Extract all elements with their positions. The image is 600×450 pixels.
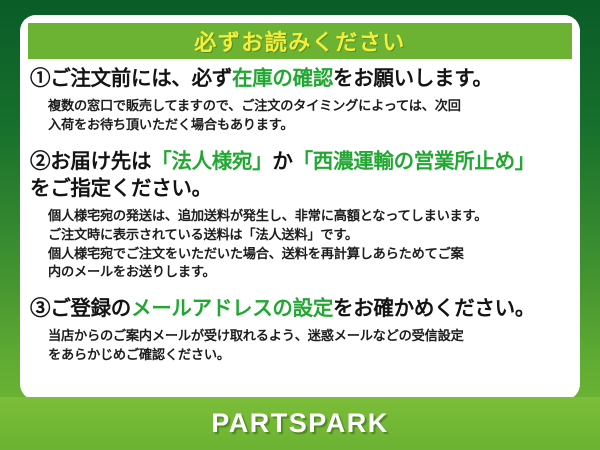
notice-item-2-headline-seg-1: お届け先は <box>50 150 151 173</box>
notice-item-3-marker: ③ <box>30 297 50 320</box>
notice-item-2-body-line-2: ご注文時に表示されている送料は「法人送料」です。 <box>30 226 572 245</box>
notice-item-2-headline-highlight-1: 「法人様宛」 <box>151 150 272 173</box>
notice-item-3: ③ご登録のメールアドレスの設定をお確かめください。 当店からのご案内メールが受け… <box>30 295 572 365</box>
notice-item-2-body-line-1: 個人様宅宛の発送は、追加送料が発生し、非常に高額となってしまいます。 <box>30 207 572 226</box>
notice-item-2-headline: ②お届け先は「法人様宛」か「西濃運輸の営業所止め」 <box>30 148 572 175</box>
brand-logo: PARTSPARK <box>211 408 389 439</box>
notice-item-1-body-line-2: 入荷をお待ち頂いただく場合もあります。 <box>30 116 572 135</box>
notice-item-2-marker: ② <box>30 150 50 173</box>
notice-item-1: ①ご注文前には、必ず在庫の確認をお願いします。 複数の窓口で販売してますので、ご… <box>30 65 572 135</box>
notice-item-3-headline: ③ご登録のメールアドレスの設定をお確かめください。 <box>30 295 572 322</box>
notice-item-2-headline-highlight-2: 「西濃運輸の営業所止め」 <box>293 150 535 173</box>
notice-item-3-headline-seg-3: をお確かめください。 <box>333 297 535 320</box>
notice-item-1-headline-seg-1: ご注文前には、必ず <box>50 67 232 90</box>
notice-panel: 必ずお読みください ①ご注文前には、必ず在庫の確認をお願いします。 複数の窓口で… <box>20 15 580 400</box>
notice-item-2-headline-line-2: をご指定ください。 <box>30 175 572 202</box>
page-title: 必ずお読みください <box>194 25 406 57</box>
notice-item-1-headline: ①ご注文前には、必ず在庫の確認をお願いします。 <box>30 65 572 92</box>
notice-content: ①ご注文前には、必ず在庫の確認をお願いします。 複数の窓口で販売してますので、ご… <box>20 65 580 367</box>
notice-item-1-headline-highlight: 在庫の確認 <box>232 67 333 90</box>
notice-item-2-body-line-4: 内のメールをお送りします。 <box>30 263 572 282</box>
notice-item-2-headline-seg-3: か <box>272 150 292 173</box>
footer-bar: PARTSPARK <box>0 397 600 450</box>
notice-item-2-body-line-3: 個人様宅宛でご注文をいただいた場合、送料を再計算しあらためてご案 <box>30 245 572 264</box>
notice-title-bar: 必ずお読みください <box>28 23 572 59</box>
notice-item-3-body-line-1: 当店からのご案内メールが受け取れるよう、迷惑メールなどの受信設定 <box>30 327 572 346</box>
notice-item-2: ②お届け先は「法人様宛」か「西濃運輸の営業所止め」 をご指定ください。 個人様宅… <box>30 148 572 282</box>
notice-item-1-marker: ① <box>30 67 50 90</box>
notice-item-3-headline-seg-1: ご登録の <box>50 297 131 320</box>
notice-item-3-headline-highlight: メールアドレスの設定 <box>131 297 333 320</box>
notice-item-1-body-line-1: 複数の窓口で販売してますので、ご注文のタイミングによっては、次回 <box>30 97 572 116</box>
notice-item-3-body-line-2: をあらかじめご確認ください。 <box>30 346 572 365</box>
notice-item-1-headline-seg-3: をお願いします。 <box>333 67 493 90</box>
notice-banner: { "header": { "title": "必ずお読みください" }, "c… <box>0 0 600 450</box>
